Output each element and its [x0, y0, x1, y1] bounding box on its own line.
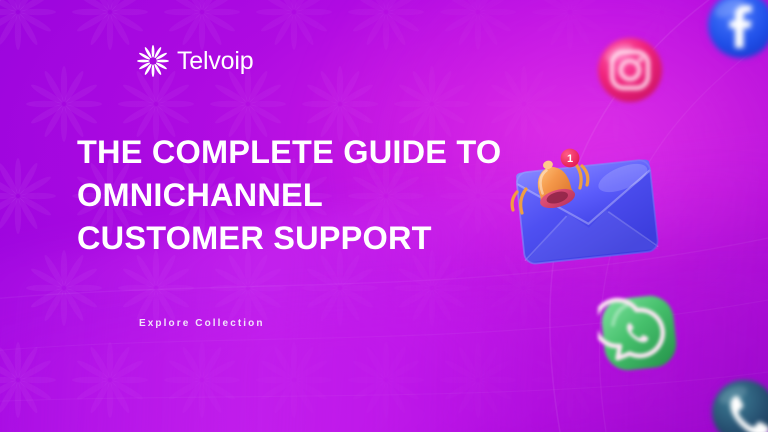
notification-badge-count: 1	[567, 153, 573, 165]
notification-badge: 1	[561, 149, 580, 168]
brand-logo[interactable]: Telvoip	[136, 44, 253, 78]
envelope-3d-icon: 1	[508, 148, 664, 268]
facebook-icon	[706, 0, 768, 60]
whatsapp-icon	[598, 292, 680, 374]
phone-call-icon	[710, 378, 768, 432]
promo-banner: Telvoip The Complete Guide to Omnichanne…	[0, 0, 768, 432]
instagram-icon	[596, 36, 664, 104]
starburst-icon	[136, 44, 170, 78]
brand-name: Telvoip	[177, 49, 253, 74]
explore-collection-link[interactable]: Explore Collection	[139, 318, 265, 329]
page-title: The Complete Guide to Omnichannel Custom…	[77, 131, 517, 260]
